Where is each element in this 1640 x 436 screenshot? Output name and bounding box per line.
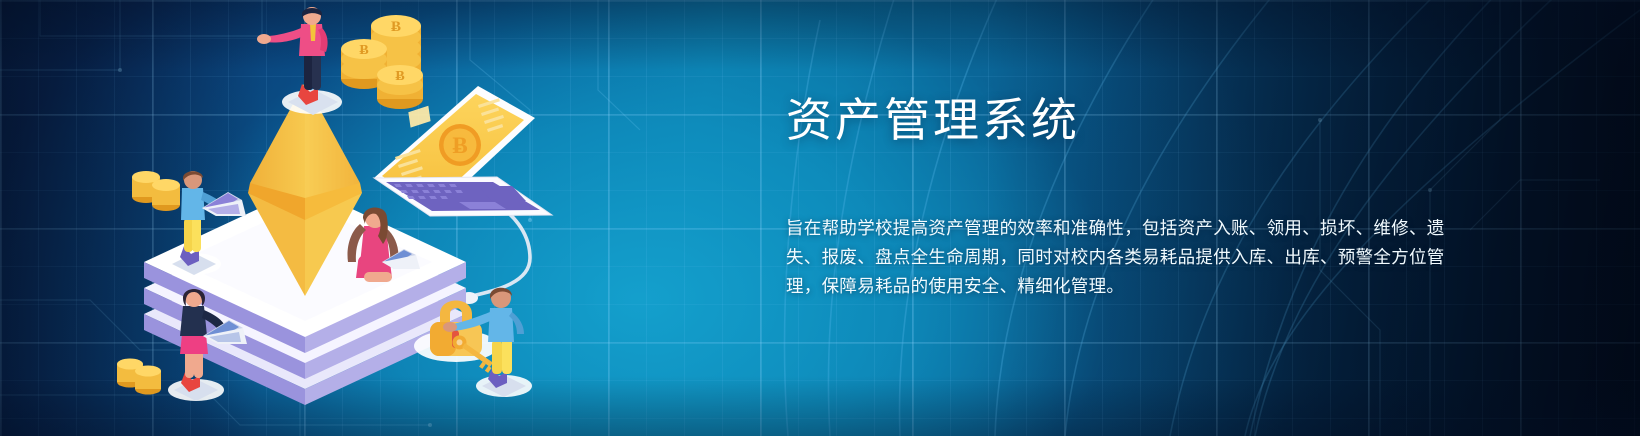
coin-stack-large-icon: Ƀ Ƀ — [341, 15, 423, 109]
svg-text:Ƀ: Ƀ — [391, 19, 401, 35]
hero-banner: Ƀ Ƀ — [0, 0, 1640, 436]
isometric-blockchain-illustration: Ƀ Ƀ — [60, 0, 580, 436]
svg-text:Ƀ: Ƀ — [359, 43, 368, 58]
coin-stack-small-left-icon — [132, 171, 180, 211]
svg-text:Ƀ: Ƀ — [395, 69, 404, 84]
person-pointing-top — [257, 7, 342, 115]
page-description: 旨在帮助学校提高资产管理的效率和准确性，包括资产入账、领用、损坏、维修、遗失、报… — [786, 150, 1468, 301]
banner-copy: 资产管理系统 旨在帮助学校提高资产管理的效率和准确性，包括资产入账、领用、损坏、… — [786, 92, 1486, 301]
page-title: 资产管理系统 — [786, 92, 1486, 150]
svg-text:Ƀ: Ƀ — [452, 133, 467, 158]
coin-stack-small-bottom-icon — [117, 359, 161, 395]
